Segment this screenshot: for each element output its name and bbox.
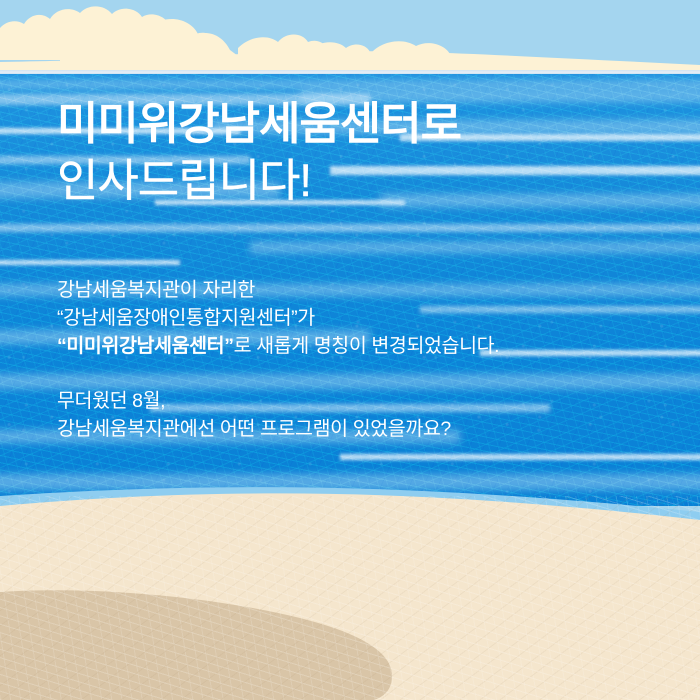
paragraph2-line2: 강남세움복지관에선 어떤 프로그램이 있었을까요?	[57, 415, 677, 443]
paragraph2-line1: 무더웠던 8월,	[57, 387, 677, 415]
cloud-shapes	[0, 0, 700, 76]
beach-announcement-card: 미미위강남세움센터로 인사드립니다! 강남세움복지관이 자리한 “강남세움장애인…	[0, 0, 700, 700]
body-copy: 강남세움복지관이 자리한 “강남세움장애인통합지원센터”가 “미미위강남세움센터…	[57, 276, 677, 443]
headline: 미미위강남세움센터로 인사드립니다!	[57, 96, 677, 210]
center-name-emphasis: “미미위강남세움센터”	[57, 335, 234, 357]
sand-beach	[0, 470, 700, 700]
paragraph1-line1: 강남세움복지관이 자리한	[57, 276, 677, 304]
paragraph1-line3: “미미위강남세움센터”로 새롭게 명칭이 변경되었습니다.	[57, 332, 677, 360]
paragraph1-line2: “강남세움장애인통합지원센터”가	[57, 304, 677, 332]
paragraph1-line3-rest: 로 새롭게 명칭이 변경되었습니다.	[234, 335, 500, 357]
headline-line-1: 미미위강남세움센터로	[57, 96, 677, 152]
headline-line-2: 인사드립니다!	[57, 152, 677, 210]
paragraph-spacer	[57, 360, 677, 387]
